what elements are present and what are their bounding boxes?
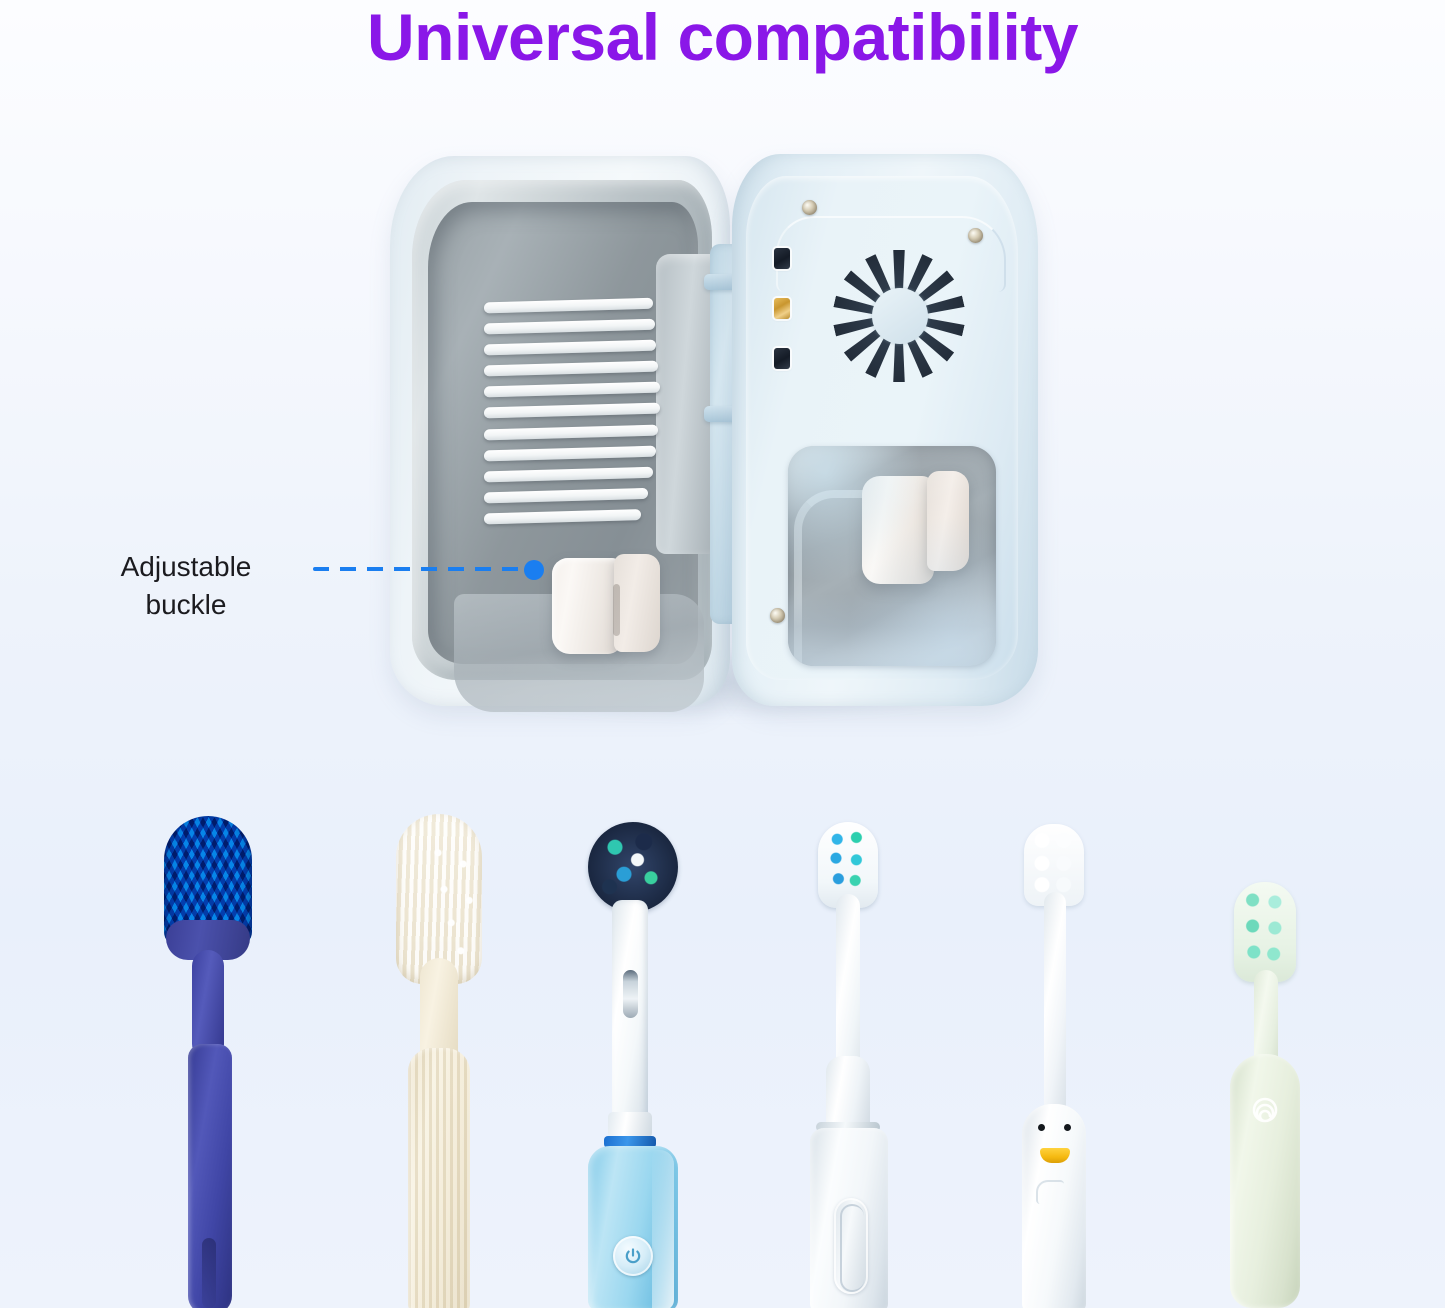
fan-vent [828,240,970,392]
case-left-half-lid [390,156,730,706]
product-marketing-image: Universal compatibility [0,0,1445,1308]
case-right-half-base [732,154,1038,706]
vent-slot [484,445,656,461]
vent-slot [484,319,655,335]
handle-groove [202,1238,216,1308]
mirror-panel [788,446,996,666]
head-collar [608,1112,652,1138]
stem-window [623,970,638,1018]
vent-slot [484,340,656,356]
screw-bottom-left [770,608,785,623]
ventilation-grille [484,298,660,525]
duck-wing-icon [1036,1180,1064,1204]
vent-slot [484,361,658,377]
screw-top-left [802,200,817,215]
callout-leader-dot [524,560,544,580]
brush-neck-flare [826,1056,870,1128]
adjustable-buckle [552,554,660,654]
screw-top-right [968,228,983,243]
vent-slot [484,424,658,440]
brush-handle [1022,1104,1086,1308]
vent-slot [484,488,648,504]
vent-slot [484,382,660,398]
vent-slot [484,509,641,524]
power-button[interactable] [613,1236,653,1276]
buckle-side-tab [614,554,660,652]
buckle-notch [613,584,620,636]
power-icon [623,1246,643,1266]
page-title: Universal compatibility [0,0,1445,78]
callout-label-line2: buckle [86,586,286,624]
swirl-emblem-icon [1243,1088,1287,1132]
bristle-head [1234,882,1296,982]
lid-interior-cavity [428,202,698,664]
vent-slot [484,466,653,482]
product-case [380,148,1050,718]
mirror-glare [788,446,996,666]
toothbrush-manual-blue [150,808,268,1308]
buckle-body [552,558,622,654]
base-inner-face [746,176,1018,680]
callout-label: Adjustable buckle [86,548,286,624]
toothbrush-bamboo [378,808,500,1308]
toothbrush-electric-sonic [790,818,906,1308]
toothbrush-kids-duck [1000,818,1110,1308]
fan-hub [872,288,928,344]
led-top-icon [774,248,790,269]
brush-neck [1044,892,1066,1118]
vent-slot [484,403,660,419]
led-uv-icon [774,298,790,319]
duck-eye-left-icon [1038,1124,1045,1131]
callout-leader-line [313,567,531,571]
duck-eye-right-icon [1064,1124,1071,1131]
vent-slot [484,298,653,314]
callout-label-line1: Adjustable [86,548,286,586]
toothbrush-electric-round-head [566,818,688,1308]
toothbrush-kids-green-swirl [1210,878,1320,1308]
brush-handle [408,1048,470,1308]
led-bottom-icon [774,348,790,369]
bristle-tufts [426,836,486,976]
round-bristle-head [588,822,678,912]
swirl-icon [1243,1088,1287,1132]
handle-highlight [652,1150,674,1308]
power-button-detail [840,1204,864,1292]
